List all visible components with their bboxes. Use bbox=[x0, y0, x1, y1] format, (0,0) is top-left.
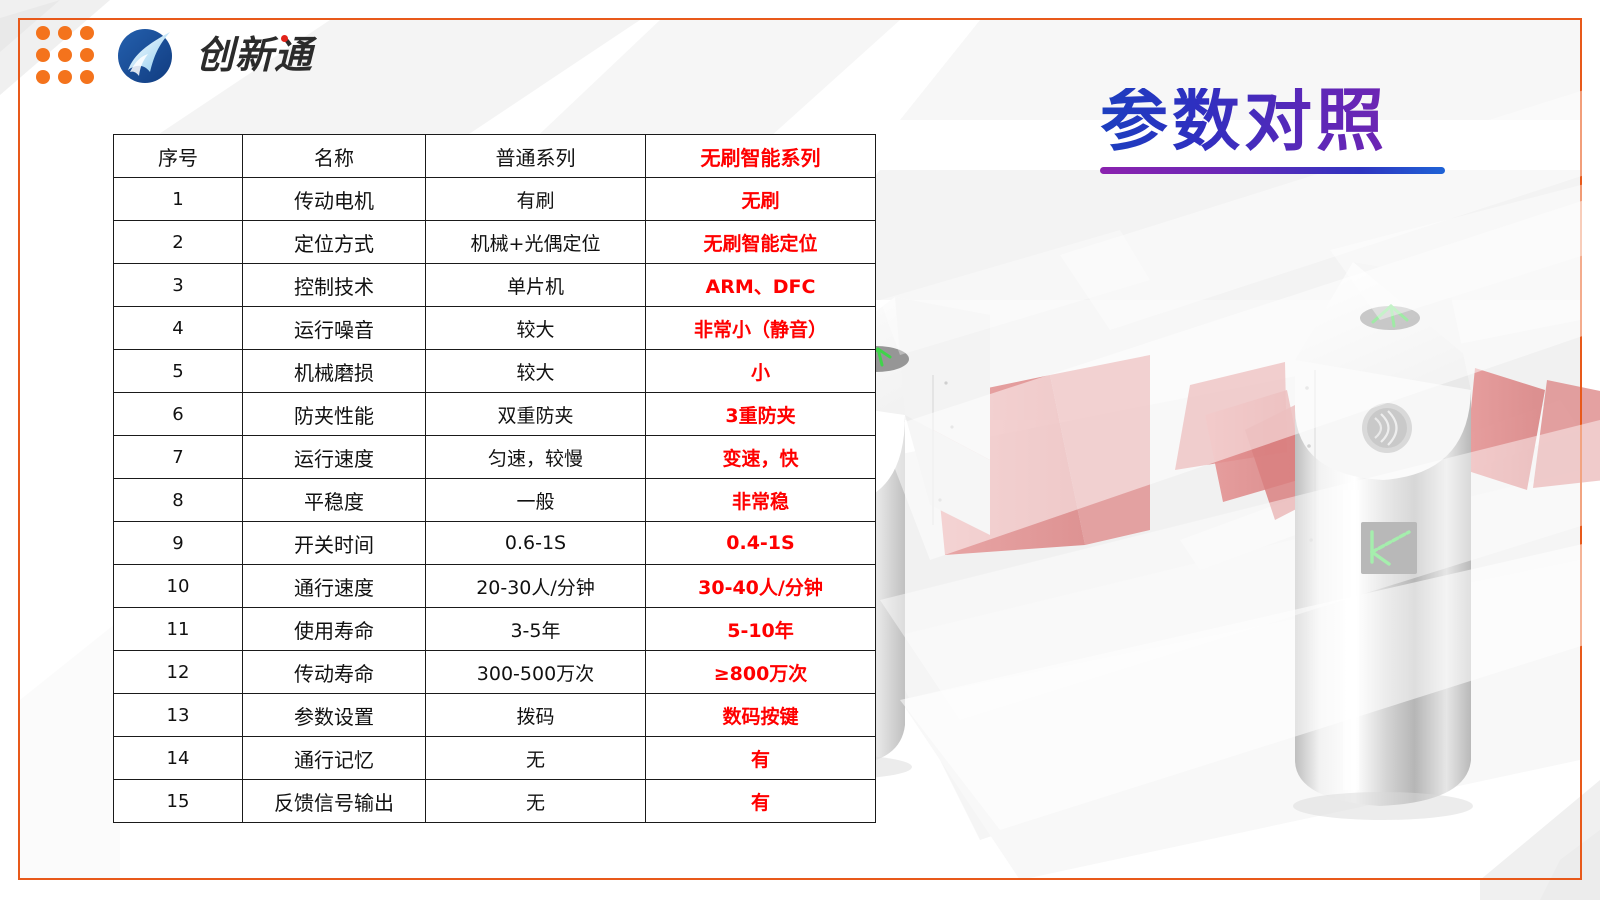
table-row: 5机械磨损较大小 bbox=[114, 350, 876, 393]
cell-brushless: ARM、DFC bbox=[646, 264, 876, 307]
cell-standard: 0.6-1S bbox=[426, 522, 646, 565]
cell-name: 参数设置 bbox=[243, 694, 426, 737]
nine-dot-grid-icon bbox=[36, 26, 94, 84]
cell-brushless: 非常稳 bbox=[646, 479, 876, 522]
cell-brushless: 数码按键 bbox=[646, 694, 876, 737]
table-row: 12传动寿命300-500万次≥800万次 bbox=[114, 651, 876, 694]
table-row: 4运行噪音较大非常小（静音） bbox=[114, 307, 876, 350]
cell-name: 平稳度 bbox=[243, 479, 426, 522]
cell-name: 定位方式 bbox=[243, 221, 426, 264]
cell-name: 通行速度 bbox=[243, 565, 426, 608]
cell-brushless: 3重防夹 bbox=[646, 393, 876, 436]
cell-standard: 单片机 bbox=[426, 264, 646, 307]
cell-brushless: 无刷 bbox=[646, 178, 876, 221]
cell-index: 7 bbox=[114, 436, 243, 479]
header-brushless: 无刷智能系列 bbox=[646, 135, 876, 178]
cell-brushless: 小 bbox=[646, 350, 876, 393]
cell-name: 传动寿命 bbox=[243, 651, 426, 694]
cell-index: 1 bbox=[114, 178, 243, 221]
cell-standard: 一般 bbox=[426, 479, 646, 522]
table-row: 13参数设置拨码数码按键 bbox=[114, 694, 876, 737]
header-name: 名称 bbox=[243, 135, 426, 178]
cell-name: 控制技术 bbox=[243, 264, 426, 307]
cell-name: 防夹性能 bbox=[243, 393, 426, 436]
cell-standard: 较大 bbox=[426, 307, 646, 350]
parameter-comparison-table: 序号 名称 普通系列 无刷智能系列 1传动电机有刷无刷2定位方式机械+光偶定位无… bbox=[113, 134, 876, 823]
table-row: 2定位方式机械+光偶定位无刷智能定位 bbox=[114, 221, 876, 264]
cell-index: 4 bbox=[114, 307, 243, 350]
cell-standard: 300-500万次 bbox=[426, 651, 646, 694]
cell-index: 6 bbox=[114, 393, 243, 436]
table-row: 9开关时间0.6-1S0.4-1S bbox=[114, 522, 876, 565]
table-row: 15反馈信号输出无有 bbox=[114, 780, 876, 823]
cell-brushless: 无刷智能定位 bbox=[646, 221, 876, 264]
cell-brushless: 30-40人/分钟 bbox=[646, 565, 876, 608]
page-title-wrap: 参数对照 bbox=[1100, 88, 1445, 174]
cell-brushless: 有 bbox=[646, 737, 876, 780]
cell-brushless: 非常小（静音） bbox=[646, 307, 876, 350]
flap-barrier-turnstile-right bbox=[1175, 240, 1600, 840]
cell-name: 开关时间 bbox=[243, 522, 426, 565]
cell-index: 11 bbox=[114, 608, 243, 651]
cell-name: 传动电机 bbox=[243, 178, 426, 221]
cell-index: 14 bbox=[114, 737, 243, 780]
cell-standard: 匀速，较慢 bbox=[426, 436, 646, 479]
table-row: 10通行速度20-30人/分钟30-40人/分钟 bbox=[114, 565, 876, 608]
cell-name: 运行噪音 bbox=[243, 307, 426, 350]
cell-index: 9 bbox=[114, 522, 243, 565]
cell-name: 反馈信号输出 bbox=[243, 780, 426, 823]
cell-standard: 有刷 bbox=[426, 178, 646, 221]
cell-standard: 拨码 bbox=[426, 694, 646, 737]
cell-brushless: 有 bbox=[646, 780, 876, 823]
brand-name: 创新通 bbox=[196, 36, 313, 74]
header-standard: 普通系列 bbox=[426, 135, 646, 178]
table-header-row: 序号 名称 普通系列 无刷智能系列 bbox=[114, 135, 876, 178]
swoosh-circle-logo-icon bbox=[114, 24, 176, 86]
cell-standard: 无 bbox=[426, 737, 646, 780]
cell-index: 10 bbox=[114, 565, 243, 608]
cell-index: 2 bbox=[114, 221, 243, 264]
table-row: 14通行记忆无有 bbox=[114, 737, 876, 780]
table-row: 8平稳度一般非常稳 bbox=[114, 479, 876, 522]
cell-brushless: ≥800万次 bbox=[646, 651, 876, 694]
cell-brushless: 变速，快 bbox=[646, 436, 876, 479]
cell-brushless: 0.4-1S bbox=[646, 522, 876, 565]
cell-index: 15 bbox=[114, 780, 243, 823]
brand-accent-dot bbox=[281, 35, 288, 42]
cell-name: 使用寿命 bbox=[243, 608, 426, 651]
cell-index: 12 bbox=[114, 651, 243, 694]
cell-index: 8 bbox=[114, 479, 243, 522]
table-row: 3控制技术单片机ARM、DFC bbox=[114, 264, 876, 307]
cell-standard: 20-30人/分钟 bbox=[426, 565, 646, 608]
cell-standard: 机械+光偶定位 bbox=[426, 221, 646, 264]
table-row: 11使用寿命3-5年5-10年 bbox=[114, 608, 876, 651]
cell-index: 5 bbox=[114, 350, 243, 393]
cell-index: 13 bbox=[114, 694, 243, 737]
brand-logo-block: 创新通 bbox=[36, 24, 313, 86]
cell-standard: 3-5年 bbox=[426, 608, 646, 651]
table-row: 6防夹性能双重防夹3重防夹 bbox=[114, 393, 876, 436]
cell-index: 3 bbox=[114, 264, 243, 307]
cell-name: 运行速度 bbox=[243, 436, 426, 479]
cell-name: 通行记忆 bbox=[243, 737, 426, 780]
cell-name: 机械磨损 bbox=[243, 350, 426, 393]
table-row: 7运行速度匀速，较慢变速，快 bbox=[114, 436, 876, 479]
cell-standard: 较大 bbox=[426, 350, 646, 393]
title-underline bbox=[1100, 167, 1445, 174]
cell-standard: 双重防夹 bbox=[426, 393, 646, 436]
cell-standard: 无 bbox=[426, 780, 646, 823]
header-index: 序号 bbox=[114, 135, 243, 178]
table-row: 1传动电机有刷无刷 bbox=[114, 178, 876, 221]
page-title: 参数对照 bbox=[1100, 88, 1445, 156]
cell-brushless: 5-10年 bbox=[646, 608, 876, 651]
